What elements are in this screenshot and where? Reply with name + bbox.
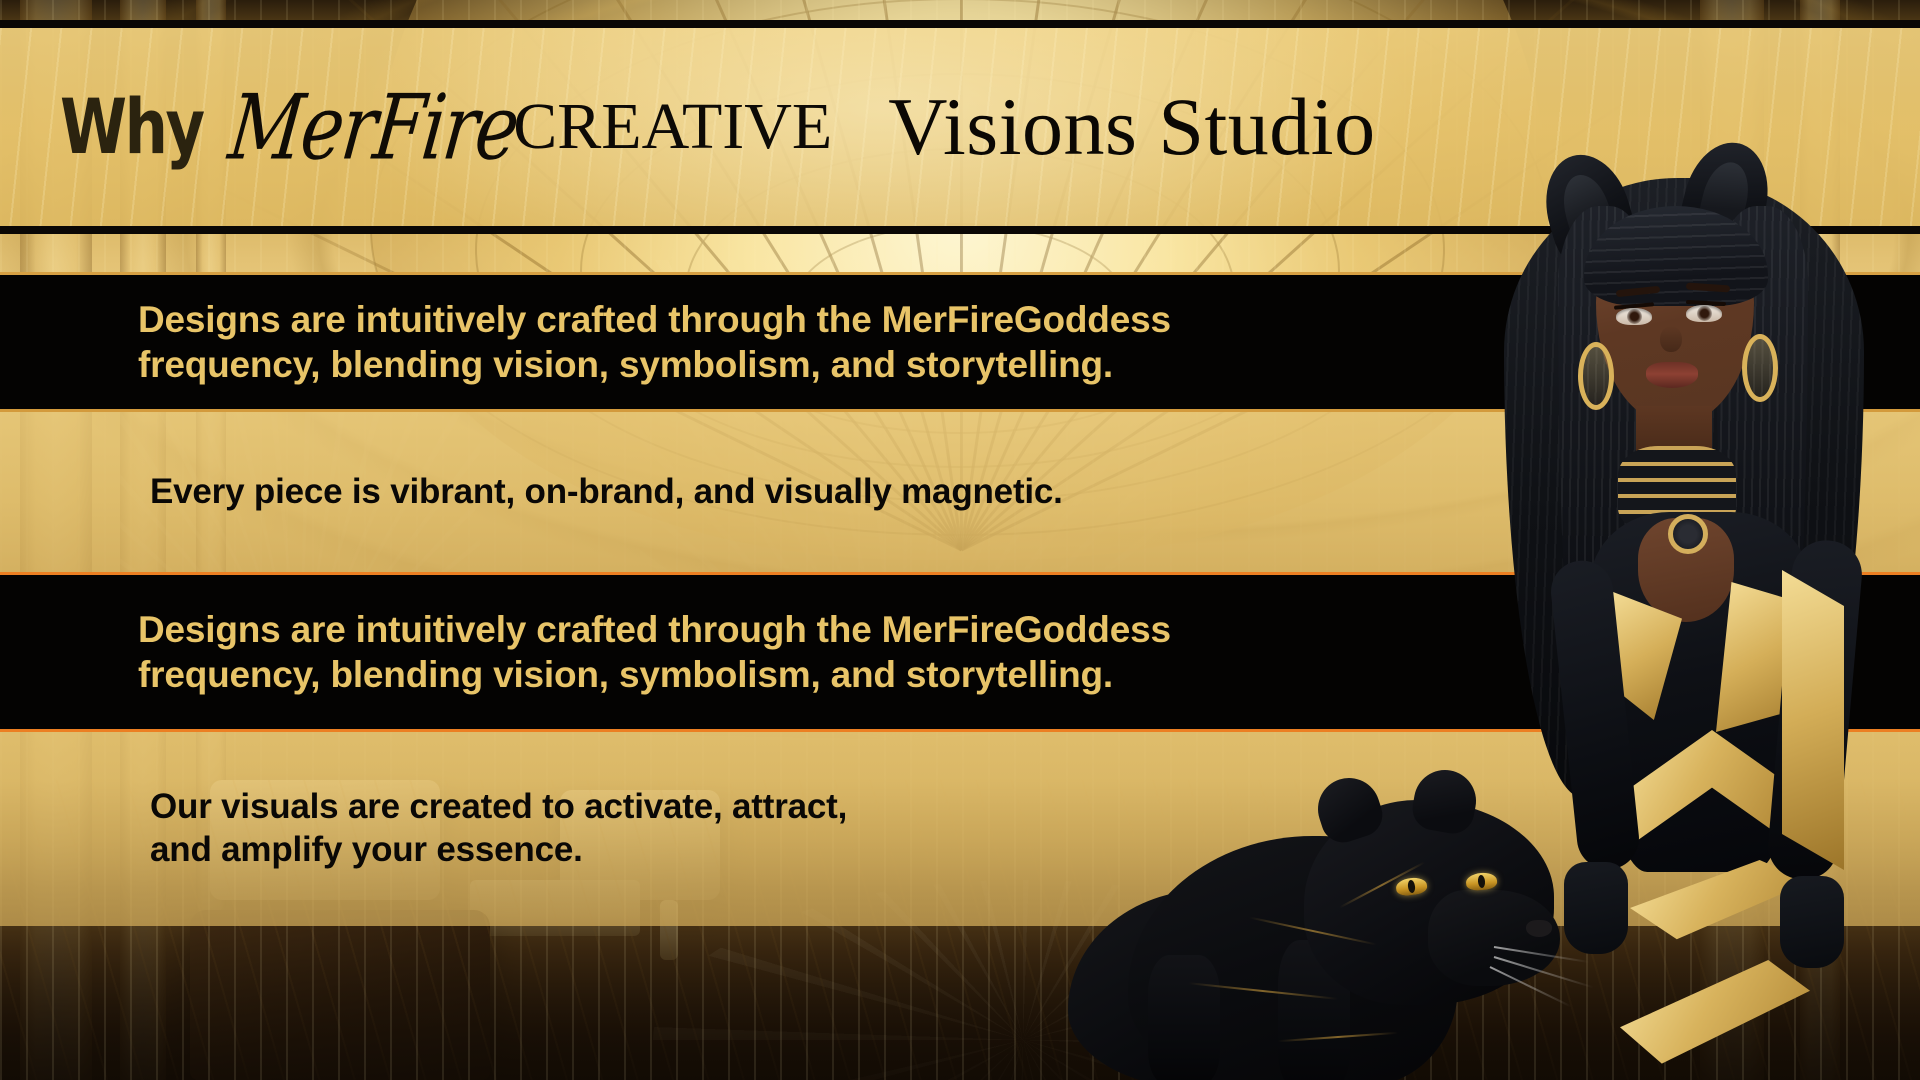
page-title: Why MerFire CREATIVE Visions Studio — [60, 28, 1376, 226]
message-band-1-text: Designs are intuitively crafted through … — [0, 297, 1171, 387]
title-why: Why — [60, 89, 203, 165]
promo-graphic-canvas: Why MerFire CREATIVE Visions Studio Desi… — [0, 0, 1920, 1080]
message-band-3: Designs are intuitively crafted through … — [0, 572, 1920, 732]
message-band-3-text: Designs are intuitively crafted through … — [0, 607, 1171, 697]
message-band-4-text: Our visuals are created to activate, att… — [0, 786, 847, 871]
header-rule-bottom — [0, 226, 1920, 234]
message-band-4: Our visuals are created to activate, att… — [0, 732, 1920, 926]
message-band-1: Designs are intuitively crafted through … — [0, 272, 1920, 412]
title-merfire-script: MerFire — [219, 82, 528, 172]
message-band-2-text: Every piece is vibrant, on-brand, and vi… — [0, 471, 1063, 514]
header-rule-top — [0, 20, 1920, 28]
message-band-2: Every piece is vibrant, on-brand, and vi… — [0, 412, 1920, 572]
title-visions-studio: Visions Studio — [888, 86, 1375, 168]
header-band: Why MerFire CREATIVE Visions Studio — [0, 28, 1920, 226]
title-creative: CREATIVE — [513, 94, 832, 160]
